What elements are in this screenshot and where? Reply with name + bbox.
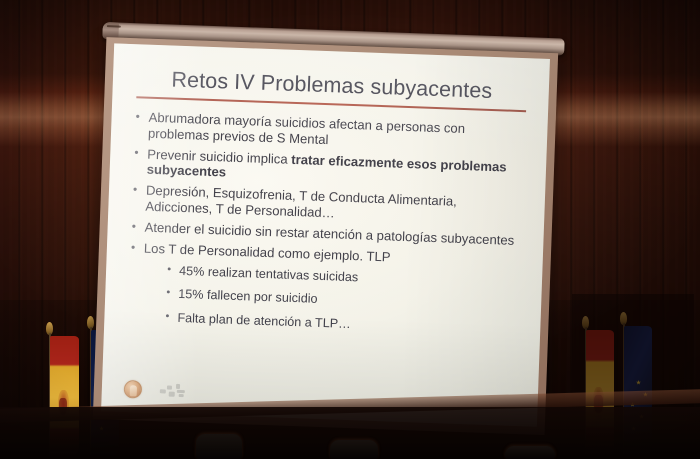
projection-screen: Retos IV Problemas subyacentes Abrumador… (89, 22, 563, 438)
slide-footer-logos (124, 380, 187, 400)
chair-headrest (330, 440, 378, 459)
bullet-text: Abrumadora mayoría suicidios afectan a p… (148, 110, 466, 147)
sub-bullet-item: 15% fallecen por suicidio (164, 287, 521, 315)
bullet-text: Depresión, Esquizofrenia, T de Conducta … (145, 183, 457, 220)
circular-seal-logo-icon (124, 380, 143, 399)
bullet-item: Los T de Personalidad como ejemplo. TLP … (126, 240, 523, 338)
screen-border: Retos IV Problemas subyacentes Abrumador… (93, 37, 558, 435)
slide-sub-bullet-list: 45% realizan tentativas suicidas 15% fal… (163, 263, 522, 338)
slide-bullet-list: Abrumadora mayoría suicidios afectan a p… (126, 109, 527, 338)
bullet-text: Los T de Personalidad como ejemplo. TLP (144, 241, 391, 265)
sub-bullet-item: 45% realizan tentativas suicidas (165, 263, 522, 291)
sub-bullet-item: Falta plan de atención a TLP… (163, 310, 520, 338)
institutional-glyph-logo-icon (160, 382, 187, 400)
chair-headrest (196, 434, 242, 459)
conference-room-photo: Retos IV Problemas subyacentes Abrumador… (0, 0, 700, 459)
eu-star-icon (636, 380, 641, 385)
chair-headrest (505, 446, 555, 459)
slide-content: Retos IV Problemas subyacentes Abrumador… (101, 43, 550, 426)
presentation-slide: Retos IV Problemas subyacentes Abrumador… (101, 43, 550, 426)
